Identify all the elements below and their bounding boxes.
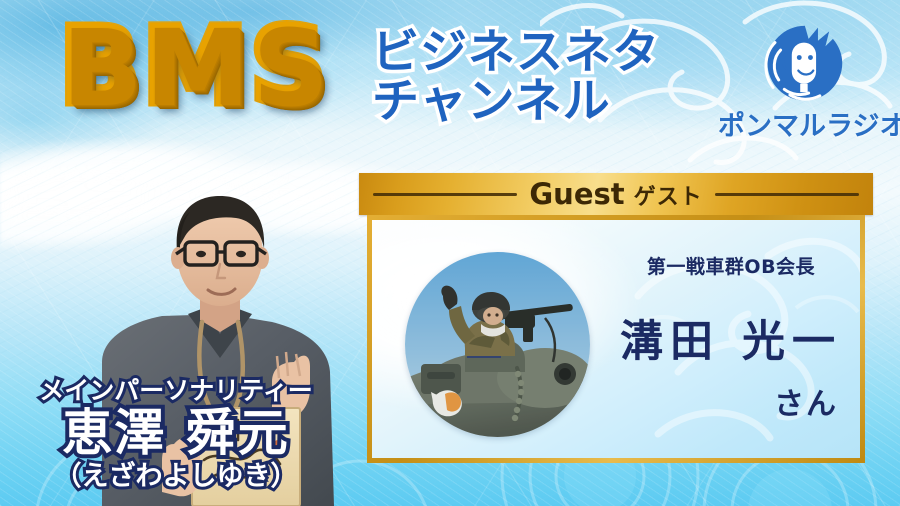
corner-tick-top-left xyxy=(370,218,386,234)
guest-title: 第一戦車群OB会長 xyxy=(600,252,862,279)
thumbnail-stage: BMS BMS ビジネスネタ チャンネル xyxy=(0,0,900,506)
guest-card: Guest ゲスト xyxy=(359,173,873,463)
guest-banner-label-jp: ゲスト xyxy=(634,179,703,211)
guest-card-body: 第一戦車群OB会長 溝田 光一 さん xyxy=(367,215,865,463)
corner-tick-top-right xyxy=(846,218,862,234)
guest-banner-label-en: Guest xyxy=(529,177,624,211)
guest-banner: Guest ゲスト xyxy=(359,173,873,215)
guest-banner-label: Guest ゲスト xyxy=(529,177,702,211)
guest-name: 溝田 光一 xyxy=(600,307,862,369)
station-logo: ポンマルラジオ xyxy=(718,22,888,148)
channel-title: ビジネスネタ チャンネル xyxy=(372,28,660,127)
bms-logo: BMS xyxy=(60,14,330,118)
guest-info: 第一戦車群OB会長 溝田 光一 さん xyxy=(600,242,862,452)
host-name: 恵澤 舜元 xyxy=(0,405,352,461)
banner-rule-left xyxy=(373,193,517,196)
banner-rule-right xyxy=(715,193,859,196)
station-wordmark: ポンマルラジオ xyxy=(718,104,888,143)
host-caption: メインパーソナリティー 恵澤 舜元 （えざわよしゆき） xyxy=(0,378,352,492)
guest-honorific: さん xyxy=(600,379,862,423)
channel-title-line2: チャンネル xyxy=(372,77,660,126)
host-name-kana: （えざわよしゆき） xyxy=(0,462,352,492)
channel-title-line1: ビジネスネタ xyxy=(372,25,660,80)
host-role-label: メインパーソナリティー xyxy=(0,378,352,404)
guest-tank-photo xyxy=(405,252,590,437)
corner-tick-bottom-right xyxy=(846,444,862,460)
corner-tick-bottom-left xyxy=(370,444,386,460)
microphone-face-flame-icon xyxy=(718,22,888,108)
